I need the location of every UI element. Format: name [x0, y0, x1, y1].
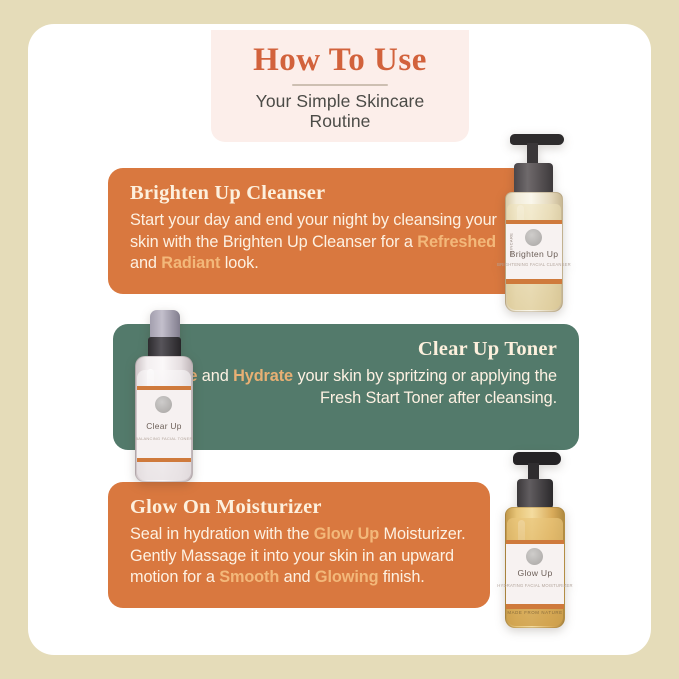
- title-divider: [292, 84, 388, 86]
- highlighted-word: Smooth: [219, 568, 279, 586]
- bottle-foot-text: MADE FROM NATURE: [506, 610, 564, 615]
- body-text-run: Seal in hydration with the: [130, 525, 314, 543]
- product-label-name: Brighten Up: [492, 249, 576, 259]
- product-label-sub: HYDRATING FACIAL MOISTURIZER: [495, 583, 575, 588]
- highlighted-word: Radiant: [161, 254, 220, 272]
- pump-collar: [517, 479, 553, 509]
- product-label-name: Clear Up: [128, 421, 200, 431]
- step-title: Brighten Up Cleanser: [130, 182, 506, 205]
- body-text-run: and: [130, 254, 161, 272]
- label-stripe-bottom: [506, 279, 562, 284]
- page-subtitle: Your Simple Skincare Routine: [211, 91, 469, 132]
- brand-emblem-icon: [155, 396, 172, 413]
- page-subtitle-line-1: Your Simple Skincare: [256, 91, 425, 111]
- brand-emblem-icon: [526, 548, 543, 565]
- step-title: Glow On Moisturizer: [130, 496, 468, 519]
- body-text-run: finish.: [378, 568, 424, 586]
- label-stripe-top: [506, 540, 564, 544]
- product-bottle-brighten-up: Brighten Up BRIGHTENING FACIAL CLEANSER …: [492, 134, 576, 312]
- label-stripe-top: [506, 220, 562, 224]
- highlighted-word: Hydrate: [233, 367, 293, 385]
- step-body: Seal in hydration with the Glow Up Moist…: [130, 524, 468, 589]
- highlighted-word: Glowing: [315, 568, 379, 586]
- label-stripe-bottom: [506, 604, 564, 609]
- highlighted-word: Glow Up: [314, 525, 379, 543]
- product-label-name: Glow Up: [495, 568, 575, 578]
- label-stripe-bottom: [137, 458, 191, 462]
- step-card-brighten-up-cleanser: Brighten Up Cleanser Start your day and …: [108, 168, 528, 294]
- header-block: How To Use Your Simple Skincare Routine: [211, 30, 469, 142]
- pump-collar: [514, 163, 553, 195]
- body-text-run: and: [197, 367, 233, 385]
- product-label-sub: BALANCING FACIAL TONER: [128, 436, 200, 441]
- page-title: How To Use: [211, 30, 469, 78]
- product-bottle-glow-up: Glow Up HYDRATING FACIAL MOISTURIZER MAD…: [495, 452, 575, 628]
- body-text-run: and: [279, 568, 315, 586]
- highlighted-word: Refreshed: [417, 233, 496, 251]
- brand-emblem-icon: [525, 229, 542, 246]
- page-subtitle-line-2: Routine: [309, 111, 370, 131]
- infographic-stage: How To Use Your Simple Skincare Routine …: [0, 0, 679, 679]
- pump-neck: [527, 143, 538, 165]
- step-body: Start your day and end your night by cle…: [130, 210, 506, 275]
- body-text-run: look.: [220, 254, 258, 272]
- product-bottle-clear-up: Clear Up BALANCING FACIAL TONER: [128, 310, 200, 482]
- spray-cap-icon: [150, 310, 180, 339]
- product-label-sub: BRIGHTENING FACIAL CLEANSER: [492, 262, 576, 267]
- bottle-side-text: SKINCARE: [509, 231, 514, 259]
- step-card-glow-on-moisturizer: Glow On Moisturizer Seal in hydration wi…: [108, 482, 490, 608]
- body-text-run: your skin by spritzing or applying the F…: [293, 367, 557, 407]
- label-stripe-top: [137, 386, 191, 390]
